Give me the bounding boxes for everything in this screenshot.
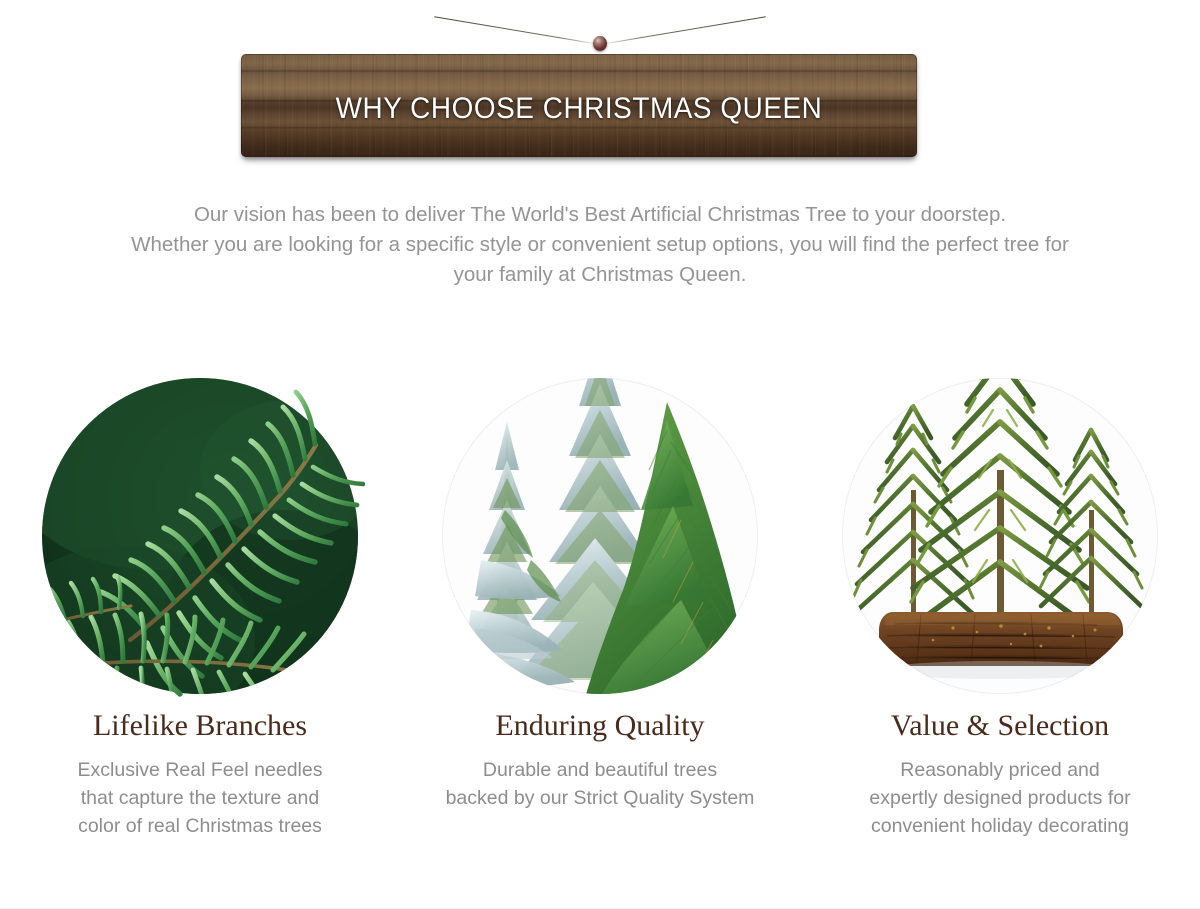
intro-line-3: your family at Christmas Queen.: [65, 260, 1135, 290]
banner-board: WHY CHOOSE CHRISTMAS QUEEN: [241, 54, 917, 157]
circle-mask-dark: [42, 378, 358, 694]
hanging-wire-right-icon: [600, 16, 766, 45]
page-title: WHY CHOOSE CHRISTMAS QUEEN: [265, 54, 894, 157]
feature-body-line-3: convenient holiday decorating: [820, 812, 1180, 840]
feature-caption: Value & Selection Reasonably priced and …: [820, 706, 1180, 840]
circle-mask-light: [842, 378, 1158, 694]
intro-line-2: Whether you are looking for a specific s…: [65, 230, 1135, 260]
alpine-trees-on-log-image: [835, 310, 1165, 700]
feature-columns: Lifelike Branches Exclusive Real Feel ne…: [0, 310, 1200, 840]
feature-column-lifelike-branches: Lifelike Branches Exclusive Real Feel ne…: [0, 310, 400, 840]
feature-body: Exclusive Real Feel needles that capture…: [20, 756, 380, 840]
circle-mask-light: [442, 378, 758, 694]
feature-title: Lifelike Branches: [20, 706, 380, 746]
feature-column-value-selection: Value & Selection Reasonably priced and …: [800, 310, 1200, 840]
feature-body-line-1: Reasonably priced and: [820, 756, 1180, 784]
pine-branch-closeup-image: [35, 310, 365, 700]
hanging-wire-left-icon: [434, 16, 600, 45]
feature-body-line-2: that capture the texture and: [20, 784, 380, 812]
feature-body-line-2: expertly designed products for: [820, 784, 1180, 812]
flocked-christmas-trees-image: [435, 310, 765, 700]
feature-caption: Lifelike Branches Exclusive Real Feel ne…: [20, 706, 380, 840]
nail-icon: [593, 36, 607, 51]
feature-title: Value & Selection: [820, 706, 1180, 746]
feature-body-line-2: backed by our Strict Quality System: [420, 784, 780, 812]
feature-body-line-3: color of real Christmas trees: [20, 812, 380, 840]
feature-column-enduring-quality: Enduring Quality Durable and beautiful t…: [400, 310, 800, 840]
feature-body-line-1: Durable and beautiful trees: [420, 756, 780, 784]
why-choose-section: WHY CHOOSE CHRISTMAS QUEEN Our vision ha…: [0, 0, 1200, 909]
feature-body: Reasonably priced and expertly designed …: [820, 756, 1180, 840]
feature-title: Enduring Quality: [420, 706, 780, 746]
feature-body-line-1: Exclusive Real Feel needles: [20, 756, 380, 784]
feature-caption: Enduring Quality Durable and beautiful t…: [420, 706, 780, 812]
intro-line-1: Our vision has been to deliver The World…: [65, 200, 1135, 230]
intro-paragraph: Our vision has been to deliver The World…: [65, 200, 1135, 290]
feature-body: Durable and beautiful trees backed by ou…: [420, 756, 780, 812]
wooden-banner: WHY CHOOSE CHRISTMAS QUEEN: [0, 30, 1200, 160]
